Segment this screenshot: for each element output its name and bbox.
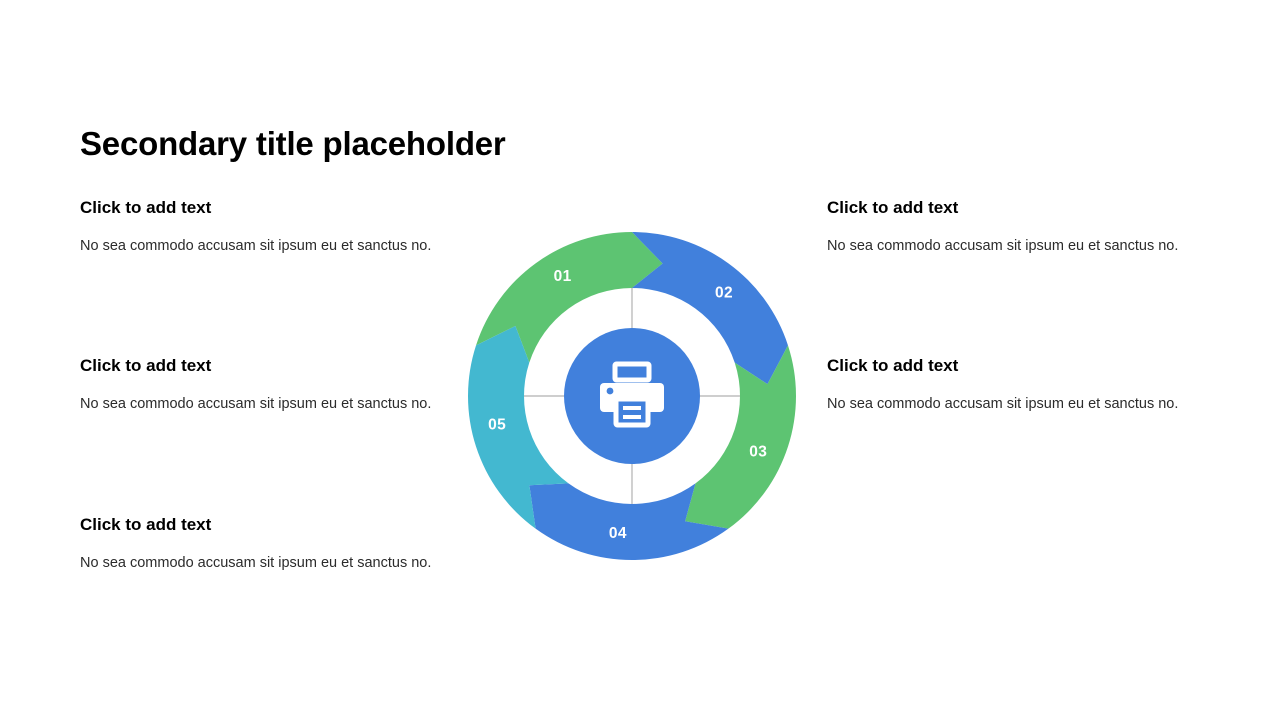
segment-label-05: 05 (488, 417, 506, 434)
segment-label-04: 04 (609, 525, 627, 542)
page-title: Secondary title placeholder (80, 124, 506, 164)
donut-segment-03[interactable] (685, 345, 796, 528)
donut-cycle-chart: 0102030405 (452, 216, 812, 576)
text-block-heading[interactable]: Click to add text (80, 355, 452, 377)
segment-label-01: 01 (554, 268, 572, 285)
segment-label-03: 03 (749, 443, 767, 460)
text-block-right-2[interactable]: Click to add text No sea commodo accusam… (827, 355, 1199, 416)
text-block-body[interactable]: No sea commodo accusam sit ipsum eu et s… (80, 552, 452, 575)
text-block-body[interactable]: No sea commodo accusam sit ipsum eu et s… (827, 235, 1199, 258)
text-block-body[interactable]: No sea commodo accusam sit ipsum eu et s… (80, 393, 452, 416)
segment-label-02: 02 (715, 285, 733, 302)
text-block-heading[interactable]: Click to add text (827, 197, 1199, 219)
text-block-heading[interactable]: Click to add text (80, 197, 452, 219)
slide-canvas: Secondary title placeholder Click to add… (0, 0, 1280, 720)
text-block-left-3[interactable]: Click to add text No sea commodo accusam… (80, 514, 452, 575)
text-block-heading[interactable]: Click to add text (80, 514, 452, 536)
text-block-left-1[interactable]: Click to add text No sea commodo accusam… (80, 197, 452, 258)
text-block-heading[interactable]: Click to add text (827, 355, 1199, 377)
text-block-body[interactable]: No sea commodo accusam sit ipsum eu et s… (80, 235, 452, 258)
text-block-body[interactable]: No sea commodo accusam sit ipsum eu et s… (827, 393, 1199, 416)
text-block-left-2[interactable]: Click to add text No sea commodo accusam… (80, 355, 452, 416)
text-block-right-1[interactable]: Click to add text No sea commodo accusam… (827, 197, 1199, 258)
